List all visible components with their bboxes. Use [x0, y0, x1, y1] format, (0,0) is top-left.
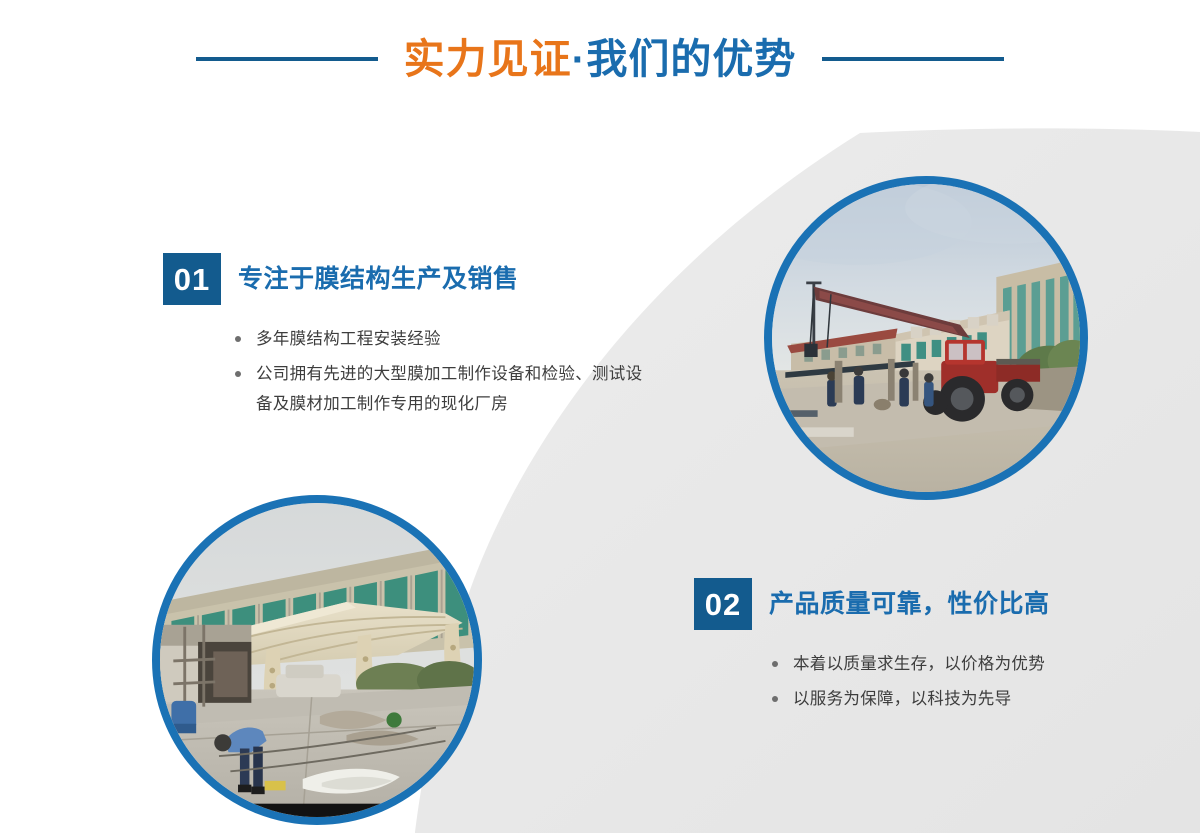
feature-02-bullet-1: 本着以质量求生存，以价格为优势 — [772, 649, 1174, 680]
page-title-blue: ·我们的优势 — [572, 36, 797, 82]
feature-02-number-badge: 02 — [694, 578, 752, 630]
photo-canopy-image — [160, 503, 474, 817]
page-header: 实力见证·我们的优势 — [0, 0, 1200, 118]
feature-01-heading: 01 专注于膜结构生产及销售 — [163, 253, 683, 305]
feature-block-01: 01 专注于膜结构生产及销售 多年膜结构工程安装经验 公司拥有先进的大型膜加工制… — [163, 253, 683, 424]
feature-02-bullet-list: 本着以质量求生存，以价格为优势 以服务为保障，以科技为先导 — [694, 649, 1174, 714]
photo-crane-image — [772, 184, 1080, 492]
feature-01-bullet-2: 公司拥有先进的大型膜加工制作设备和检验、测试设备及膜材加工制作专用的现化厂房 — [235, 359, 655, 420]
photo-membrane-canopy — [152, 495, 482, 825]
feature-01-title: 专注于膜结构生产及销售 — [238, 267, 519, 292]
page-title-orange: 实力见证 — [404, 36, 572, 82]
feature-01-bullet-1: 多年膜结构工程安装经验 — [235, 324, 655, 355]
header-rule-left — [196, 57, 378, 61]
feature-01-number-badge: 01 — [163, 253, 221, 305]
feature-02-bullet-2: 以服务为保障，以科技为先导 — [772, 684, 1174, 715]
feature-01-bullet-list: 多年膜结构工程安装经验 公司拥有先进的大型膜加工制作设备和检验、测试设备及膜材加… — [163, 324, 683, 420]
photo-crane-construction — [764, 176, 1088, 500]
header-rule-right — [822, 57, 1004, 61]
feature-block-02: 02 产品质量可靠，性价比高 本着以质量求生存，以价格为优势 以服务为保障，以科… — [694, 578, 1174, 718]
feature-02-title: 产品质量可靠，性价比高 — [769, 592, 1050, 617]
page-title: 实力见证·我们的优势 — [404, 39, 797, 80]
feature-02-heading: 02 产品质量可靠，性价比高 — [694, 578, 1174, 630]
